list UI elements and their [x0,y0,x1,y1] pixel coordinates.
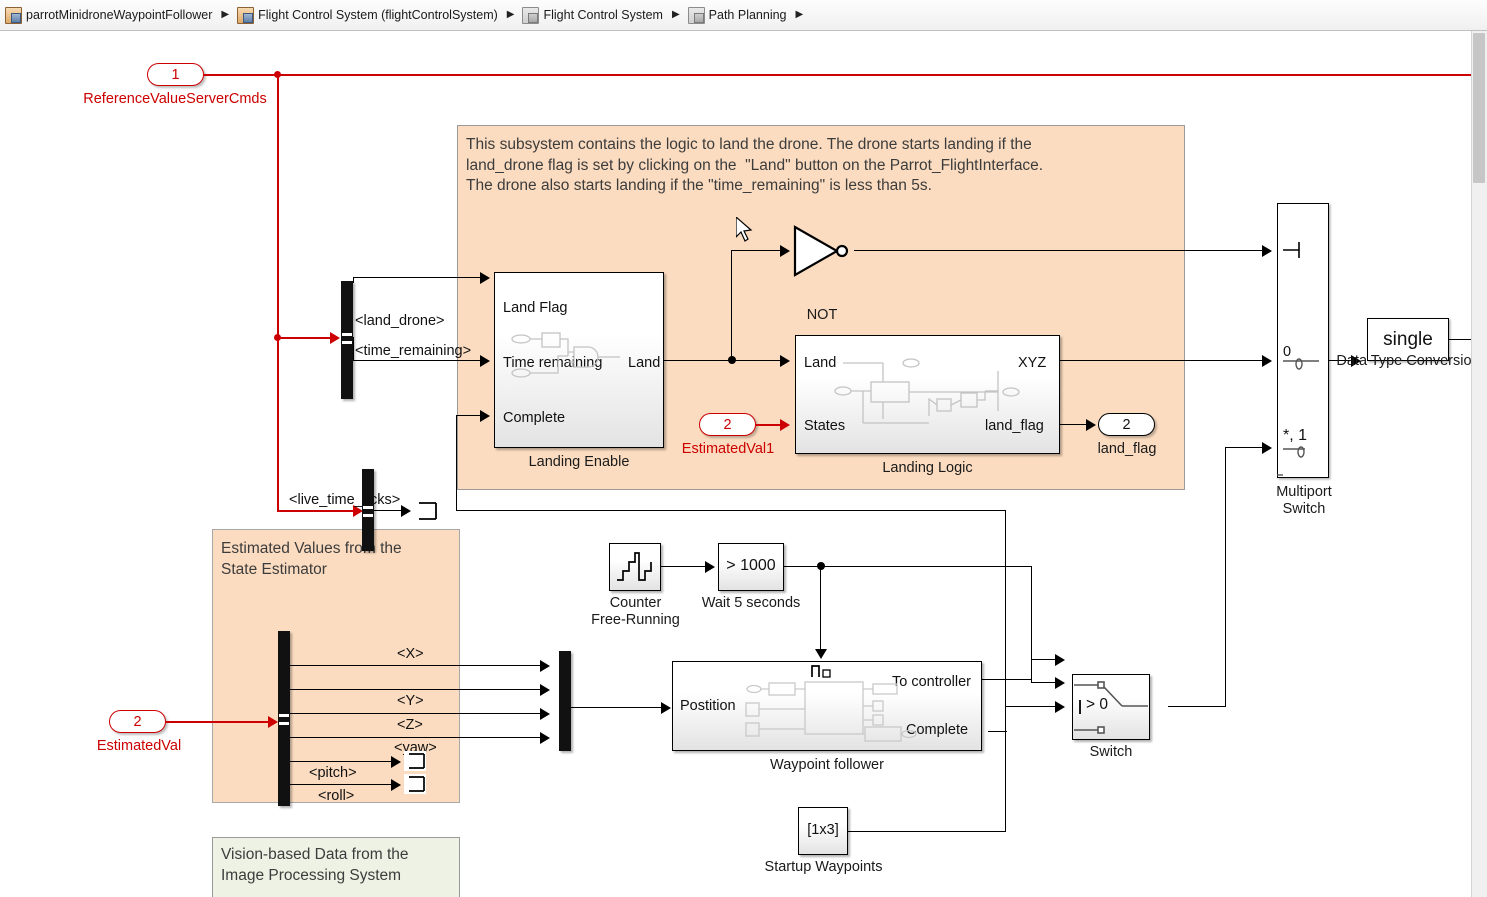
arrowhead-waypointfollower-enable-in [815,649,827,659]
inport-1-number: 1 [171,67,179,83]
arrowhead-landflag-in [480,272,490,284]
bus-selector-reference-cmds[interactable] [341,281,353,399]
outport-land-flag-number: 2 [1122,417,1130,433]
arrowhead-complete-in [480,410,490,422]
wire-land-out [664,360,736,361]
arrowhead-mux-in2 [540,684,550,696]
breadcrumb-item-0[interactable]: parrotMinidroneWaypointFollower [4,0,213,30]
landing-enable-block-label: Landing Enable [494,454,664,471]
wire-complete-feedback-down [1005,510,1006,732]
wire-tocontroller-run [982,679,1032,680]
wire-ref-drop [277,74,279,511]
wait-5-seconds-label: Wait 5 seconds [693,595,809,612]
arrowhead-switch-in1 [1055,654,1065,666]
simulink-editor-window: parrotMinidroneWaypointFollower ▶ Flight… [0,0,1487,897]
wire-wait5-down [820,566,821,652]
breadcrumb-item-1[interactable]: Flight Control System (flightControlSyst… [236,0,499,30]
landing-enable-input-complete: Complete [503,410,565,426]
arrowhead-wait5-in [705,561,715,573]
breadcrumb-chevron-icon-1: ▶ [507,10,515,20]
wire-tocontroller-riser [1031,659,1032,680]
inport-estimatedval1-block[interactable]: 2 [699,413,756,436]
wire-startup-waypoints-out [848,831,1006,832]
signal-label-y: <Y> [397,693,424,709]
multiport-switch-port-0: 0 [1283,344,1291,360]
wire-land-up-to-not [731,250,732,361]
arrowhead-landflag-outport-in [1086,419,1096,431]
arrowhead-busselector-estimated-in [268,716,278,728]
breadcrumb-item-3[interactable]: Path Planning [687,0,788,30]
wire-complete-feedback-riser [456,415,457,511]
outport-land-flag-block[interactable]: 2 [1098,413,1155,436]
inport-estimatedval-number: 2 [133,714,141,730]
wire-land-to-landinglogic [731,360,783,361]
waypoint-follower-output-complete: Complete [906,722,968,738]
arrowhead-terminator-live-time [401,505,411,517]
wire-startup-waypoints-riser [1005,706,1006,832]
startup-waypoints-value: [1x3] [798,822,848,838]
inport-estimatedval-block[interactable]: 2 [109,710,166,733]
subsystem-icon [688,7,705,24]
waypoint-follower-block-label: Waypoint follower [672,757,982,774]
wire-switch-to-multiport [1225,447,1264,448]
wire-switch-to-multiport-riser [1225,447,1226,707]
arrowhead-switch-in2 [1055,677,1065,689]
arrowhead-multiport-in1 [1262,245,1272,257]
counter-free-running-label: Counter Free-Running [583,595,688,629]
wire-live-time-ticks [374,510,404,511]
waypoint-follower-output-to-controller: To controller [892,674,971,690]
wire-sig-y [290,713,543,714]
mouse-pointer-icon [736,217,754,243]
breadcrumb-label-1: Flight Control System (flightControlSyst… [258,8,498,22]
wire-wait5-switch-tail [1031,682,1057,683]
wire-sig-z [290,737,543,738]
startup-waypoints-label: Startup Waypoints [757,859,890,876]
wire-ref-to-busselector2 [277,510,356,512]
multiport-switch-block-label: Multiport Switch [1249,484,1359,518]
not-gate-block[interactable] [793,225,851,277]
arrowhead-landinglogic-land-in [780,355,790,367]
wire-estimatedval-to-busselector [166,721,272,723]
arrowhead-mux-in4 [540,732,550,744]
wire-land-drone [353,277,483,278]
wire-land-to-not [731,250,781,251]
arrowhead-mux-in1 [540,660,550,672]
counter-free-running-block[interactable] [609,543,661,591]
signal-label-time-remaining: <time_remaining> [355,343,471,359]
data-type-conversion-value: single [1367,329,1449,351]
wire-sig-yaw [290,761,394,762]
breadcrumb-label-3: Path Planning [709,8,787,22]
mux-position-block[interactable] [559,651,571,751]
signal-label-x: <X> [397,646,424,662]
landing-enable-output-land: Land [628,355,660,371]
bus-selector-estimated-values[interactable] [278,631,290,806]
outport-land-flag-label: land_flag [1087,441,1167,457]
signal-label-z: <Z> [397,717,423,733]
landing-logic-block-label: Landing Logic [795,460,1060,477]
inport-estimatedval1-number: 2 [723,417,731,433]
inport-estimatedval1-label: EstimatedVal1 [669,441,787,457]
switch-block[interactable] [1072,674,1150,740]
wire-not-out [854,250,1264,251]
signal-label-land-drone: <land_drone> [355,313,445,329]
wire-sig-x [290,665,543,666]
wire-complete-feedback-run [456,510,1006,511]
inport-1-block[interactable]: 1 [147,63,204,86]
terminator-live-time-icon [414,500,438,522]
wire-sig-pitch [290,784,394,785]
inport-estimatedval-label: EstimatedVal [84,738,194,754]
arrowhead-multiport-in2 [1262,355,1272,367]
breadcrumb-chevron-icon-0: ▶ [221,10,229,20]
breadcrumb-chevron-icon-2: ▶ [672,10,680,20]
landing-logic-input-states: States [804,418,845,434]
waypoint-follower-input-position: Postition [680,698,736,714]
landing-logic-output-land-flag: land_flag [985,418,1044,434]
wire-time-remaining [353,360,483,361]
subsystem-icon [522,7,539,24]
switch-criteria: > 0 [1086,696,1108,714]
wire-ref-to-busselector1 [277,337,333,339]
wire-startup-to-switch3 [1005,706,1057,707]
data-type-conversion-label: Data Type Conversion [1325,353,1487,370]
wire-tocontroller-tail [1031,659,1057,660]
model-breadcrumb[interactable]: parrotMinidroneWaypointFollower ▶ Flight… [0,0,1487,31]
arrowhead-timeremaining-in [480,355,490,367]
multiport-switch-port-star1: *, 1 [1283,427,1307,445]
wire-sig-2 [290,689,543,690]
signal-label-live-time-ticks: <live_time_ticks> [289,492,400,508]
landing-logic-input-land: Land [804,355,836,371]
landing-enable-input-land-flag: Land Flag [503,300,568,316]
signal-label-roll: <roll> [318,788,354,804]
model-canvas[interactable]: This subsystem contains the logic to lan… [0,31,1487,897]
breadcrumb-chevron-icon-3: ▶ [796,10,804,20]
not-gate-label: NOT [793,307,851,324]
arrowhead-mux-in3 [540,708,550,720]
vertical-scrollbar[interactable] [1471,31,1487,897]
breadcrumb-label-2: Flight Control System [543,8,662,22]
wire-xyz-out [1060,360,1264,361]
arrowhead-not-in [780,245,790,257]
wire-counter-out [661,566,707,567]
wire-mux-out [571,707,664,708]
breadcrumb-item-2[interactable]: Flight Control System [521,0,663,30]
wire-switch-out-run [1168,706,1226,707]
arrowhead-busselector1-in [330,332,340,344]
vision-annotation-text: Vision-based Data from the Image Process… [221,845,456,886]
arrowhead-terminator-yaw [391,756,401,768]
landing-logic-annotation-text: This subsystem contains the logic to lan… [466,135,1172,197]
switch-block-label: Switch [1072,744,1150,761]
subsystem-icon [237,7,254,24]
signal-label-pitch: <pitch> [309,765,357,781]
arrowhead-terminator-pitch [391,779,401,791]
breadcrumb-label-0: parrotMinidroneWaypointFollower [26,8,212,22]
terminator-pitch-icon [404,774,426,794]
landing-logic-output-xyz: XYZ [1018,355,1046,371]
wire-estimatedval1-to-states [756,424,782,426]
wait-5-seconds-value: > 1000 [718,557,784,575]
terminator-yaw-icon [404,751,426,771]
model-icon [5,7,22,24]
arrowhead-states-in [780,419,790,431]
estimated-values-annotation-text: Estimated Values from the State Estimato… [221,539,456,580]
wire-refvalueservercmds-main [204,74,1487,76]
vertical-scrollbar-thumb[interactable] [1473,33,1485,183]
landing-logic-block[interactable] [795,335,1060,454]
inport-1-label: ReferenceValueServerCmds [60,91,290,107]
arrowhead-waypointfollower-position-in [661,702,671,714]
bus-selector-live-time[interactable] [362,469,374,551]
landing-enable-input-time-remaining: Time remaining [503,355,602,371]
